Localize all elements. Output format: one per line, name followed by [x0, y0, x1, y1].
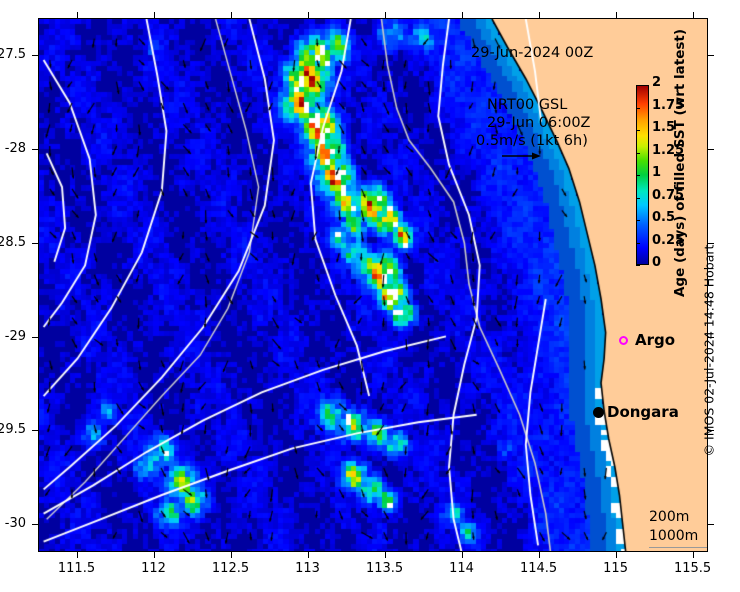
copyright-text: © IMOS 02-Jul-2024 14:48 Hobart [702, 244, 717, 456]
colorbar-tick-mark [636, 198, 640, 199]
source-time-label: 29-Jun 06:00Z [487, 115, 590, 131]
colorbar-tick-mark [636, 175, 640, 176]
x-tick-label: 111.5 [47, 561, 107, 576]
colorbar-title-text: Age (days) of filled SST (wrt latest) [672, 29, 688, 297]
scale-rule-divider [649, 547, 707, 548]
x-tick-label: 114 [432, 561, 492, 576]
x-tick-mark [385, 552, 386, 558]
x-tick-label: 115.5 [663, 561, 723, 576]
x-tick-label: 113.5 [355, 561, 415, 576]
x-tick-label: 115 [586, 561, 646, 576]
map-plot-area[interactable]: 29-Jun-2024 00Z NRT00 GSL 29-Jun 06:00Z … [38, 18, 708, 552]
y-tick-mark [32, 55, 38, 56]
source-model-label: NRT00 GSL [487, 97, 567, 113]
colorbar-tick-label: 1 [652, 168, 661, 178]
y-tick-mark [32, 243, 38, 244]
x-tick-mark-top [231, 12, 232, 18]
x-tick-mark [77, 552, 78, 558]
velocity-scale-label: 0.5m/s (1kt 6h) [476, 133, 588, 149]
y-tick-mark [32, 149, 38, 150]
colorbar-tick-label: 2 [652, 78, 661, 88]
y-tick-label: -30 [0, 516, 26, 531]
x-tick-mark [616, 552, 617, 558]
y-tick-mark-right [708, 55, 714, 56]
colorbar-tick-mark [636, 220, 640, 221]
x-tick-mark-top [308, 12, 309, 18]
colorbar-tick-mark [636, 108, 640, 109]
y-tick-label: -27.5 [0, 47, 26, 62]
colorbar-tick-mark [636, 265, 640, 266]
x-tick-mark [308, 552, 309, 558]
reference-arrow-icon [501, 151, 541, 161]
date-stamp: 29-Jun-2024 00Z [471, 45, 593, 61]
x-tick-mark-top [462, 12, 463, 18]
argo-label: Argo [635, 331, 675, 349]
argo-float-marker[interactable] [619, 336, 628, 345]
x-tick-mark [462, 552, 463, 558]
x-tick-mark-top [385, 12, 386, 18]
colorbar-title: Age (days) of filled SST (wrt latest) [672, 18, 688, 308]
colorbar-tick-mark [636, 130, 640, 131]
x-tick-label: 114.5 [509, 561, 569, 576]
y-tick-label: -28.5 [0, 235, 26, 250]
x-tick-mark-top [154, 12, 155, 18]
x-tick-mark-top [77, 12, 78, 18]
y-tick-label: -28 [0, 141, 26, 156]
figure-root: 29-Jun-2024 00Z NRT00 GSL 29-Jun 06:00Z … [0, 0, 740, 592]
sst-age-heatmap [39, 19, 707, 551]
y-tick-mark [32, 430, 38, 431]
x-tick-mark [154, 552, 155, 558]
depth-contour-1000m-label: 1000m [649, 528, 698, 544]
dongara-city-marker[interactable] [593, 407, 604, 418]
depth-contour-200m-label: 200m [649, 509, 689, 525]
x-tick-mark-top [539, 12, 540, 18]
y-tick-mark [32, 524, 38, 525]
x-tick-mark [539, 552, 540, 558]
colorbar-tick-mark [636, 153, 640, 154]
colorbar-tick-mark [636, 243, 640, 244]
x-tick-label: 112.5 [201, 561, 261, 576]
x-tick-mark [231, 552, 232, 558]
x-tick-label: 113 [278, 561, 338, 576]
dongara-label: Dongara [607, 403, 679, 421]
x-tick-mark-top [693, 12, 694, 18]
y-tick-label: -29.5 [0, 422, 26, 437]
y-tick-mark [32, 337, 38, 338]
x-tick-mark-top [616, 12, 617, 18]
colorbar-tick-mark [636, 85, 640, 86]
y-tick-label: -29 [0, 329, 26, 344]
copyright-notice: © IMOS 02-Jul-2024 14:48 Hobart [700, 140, 718, 560]
colorbar-tick-label: 0 [652, 258, 661, 268]
x-tick-mark [693, 552, 694, 558]
x-tick-label: 112 [124, 561, 184, 576]
